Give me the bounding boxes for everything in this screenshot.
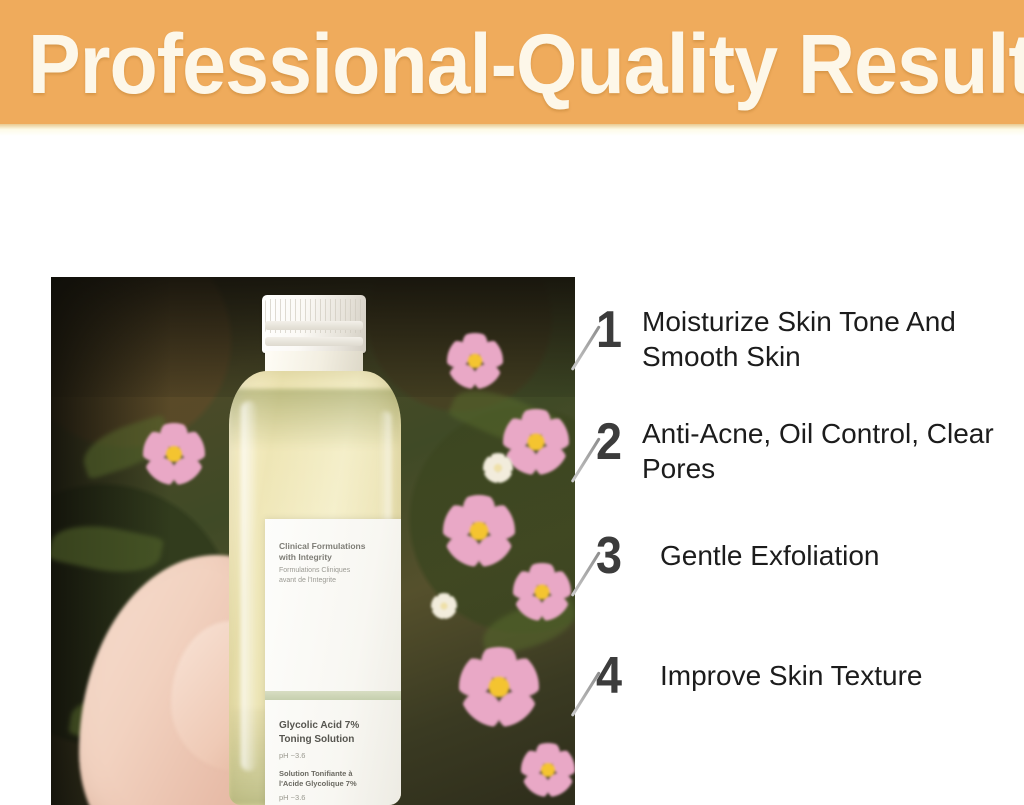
- benefit-number-badge: 2: [596, 412, 642, 488]
- label-clinical-line3: Formulations Cliniques: [279, 566, 365, 575]
- label-product-type: Toning Solution: [279, 733, 359, 747]
- benefit-number: 4: [596, 646, 622, 706]
- benefit-text: Improve Skin Texture: [642, 646, 923, 693]
- cap-ring: [265, 337, 363, 346]
- benefit-text: Gentle Exfoliation: [642, 526, 879, 573]
- benefit-text: Moisturize Skin Tone And Smooth Skin: [642, 300, 1016, 374]
- benefit-text: Anti-Acne, Oil Control, Clear Pores: [642, 412, 1016, 486]
- bottle-label: Clinical Formulations with Integrity For…: [265, 519, 401, 805]
- benefit-number: 2: [596, 412, 622, 472]
- flower: [431, 593, 457, 619]
- flower: [521, 743, 575, 797]
- label-ph-value: pH ~3.6: [279, 751, 359, 761]
- cap-ring: [265, 321, 363, 330]
- page-title: Professional-Quality Results: [28, 11, 1024, 117]
- label-ph-value-fr: pH ~3.6: [279, 793, 359, 803]
- benefit-item: 3 Gentle Exfoliation: [596, 526, 1016, 602]
- benefit-item: 2 Anti-Acne, Oil Control, Clear Pores: [596, 412, 1016, 488]
- label-clinical-line1: Clinical Formulations: [279, 541, 365, 552]
- label-top-text: Clinical Formulations with Integrity For…: [279, 541, 365, 585]
- label-product-name: Glycolic Acid 7%: [279, 719, 359, 733]
- label-clinical-line2: with Integrity: [279, 552, 365, 563]
- bottle-highlight-left: [241, 401, 257, 771]
- flower: [459, 647, 539, 727]
- benefit-item: 4 Improve Skin Texture: [596, 646, 1016, 722]
- benefit-number: 1: [596, 300, 622, 360]
- flower: [143, 423, 205, 485]
- flower: [443, 495, 515, 567]
- benefit-number: 3: [596, 526, 622, 586]
- product-bottle: Clinical Formulations with Integrity For…: [201, 295, 433, 805]
- benefit-item: 1 Moisturize Skin Tone And Smooth Skin: [596, 300, 1016, 376]
- label-product-name-fr-1: Solution Tonifiante à: [279, 769, 359, 779]
- label-clinical-line4: avant de l'Integrite: [279, 576, 365, 585]
- benefit-number-badge: 4: [596, 646, 642, 722]
- benefit-number-badge: 1: [596, 300, 642, 376]
- label-green-band: [265, 691, 401, 700]
- banner-fade-divider: [0, 124, 1024, 136]
- benefit-number-badge: 3: [596, 526, 642, 602]
- header-banner: Professional-Quality Results: [0, 0, 1024, 128]
- bottle-cap: [262, 295, 366, 353]
- bottle-body: Clinical Formulations with Integrity For…: [229, 371, 401, 805]
- flower: [447, 333, 503, 389]
- label-product-name-fr-2: l'Acide Glycolique 7%: [279, 779, 359, 789]
- flower: [503, 409, 569, 475]
- benefits-list: 1 Moisturize Skin Tone And Smooth Skin 2…: [596, 300, 1016, 754]
- label-bottom-text: Glycolic Acid 7% Toning Solution pH ~3.6…: [279, 719, 359, 804]
- flower: [513, 563, 571, 621]
- flower: [483, 453, 513, 483]
- product-photo: Clinical Formulations with Integrity For…: [51, 277, 575, 805]
